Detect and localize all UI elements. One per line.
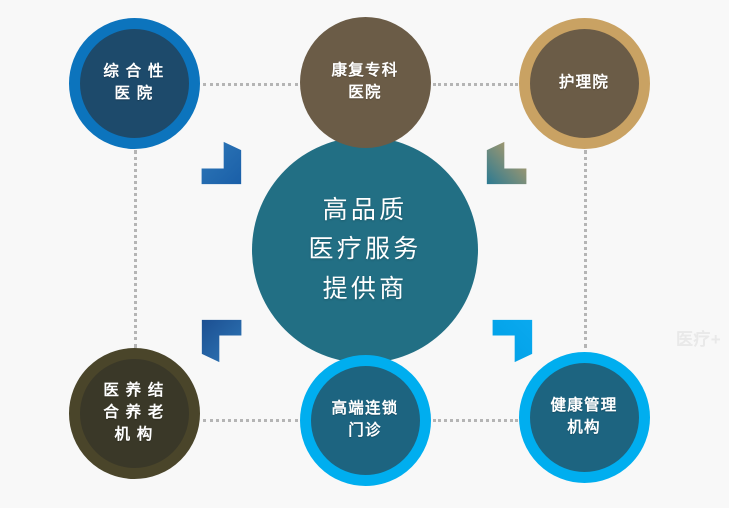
arrow-top-left-inward-icon xyxy=(197,140,243,186)
node-health-management-institution-label: 健康管理 机构 xyxy=(551,395,618,439)
connector-bottom-left-to-bottom-middle xyxy=(203,419,298,422)
node-premium-chain-clinic[interactable]: 高端连锁 门诊 xyxy=(300,355,431,486)
node-nursing-home-label: 护理院 xyxy=(559,72,609,94)
hub-node-high-quality-medical-service-provider[interactable]: 高品质 医疗服务 提供商 xyxy=(252,137,478,363)
connector-top-middle-to-top-right xyxy=(433,83,518,86)
node-rehabilitation-specialty-hospital[interactable]: 康复专科 医院 xyxy=(300,17,431,148)
connector-left-column xyxy=(134,150,137,348)
node-medical-elderly-care-institution[interactable]: 医 养 结 合 养 老 机 构 xyxy=(69,348,200,479)
watermark-text: 医疗+ xyxy=(676,330,721,350)
connector-top-left-to-top-middle xyxy=(203,83,298,86)
node-medical-elderly-care-institution-label: 医 养 结 合 养 老 机 构 xyxy=(103,380,164,446)
diagram-canvas: 医疗+ 高品质 医疗服务 提供商 综 合 性 医 院 康复专科 医院 护理院 医… xyxy=(0,0,729,508)
node-general-hospital-label: 综 合 性 医 院 xyxy=(103,61,164,105)
node-rehabilitation-specialty-hospital-label: 康复专科 医院 xyxy=(332,60,399,104)
connector-right-column xyxy=(584,150,587,348)
node-general-hospital[interactable]: 综 合 性 医 院 xyxy=(69,18,200,149)
hub-node-label: 高品质 医疗服务 提供商 xyxy=(308,191,421,310)
connector-bottom-middle-to-bottom-right xyxy=(433,419,518,422)
arrow-bottom-left-inward-icon xyxy=(200,318,246,364)
node-premium-chain-clinic-label: 高端连锁 门诊 xyxy=(332,398,399,442)
arrow-bottom-right-inward-icon xyxy=(488,318,534,364)
node-nursing-home[interactable]: 护理院 xyxy=(519,18,650,149)
arrow-top-right-inward-icon xyxy=(485,140,531,186)
node-health-management-institution[interactable]: 健康管理 机构 xyxy=(519,352,650,483)
